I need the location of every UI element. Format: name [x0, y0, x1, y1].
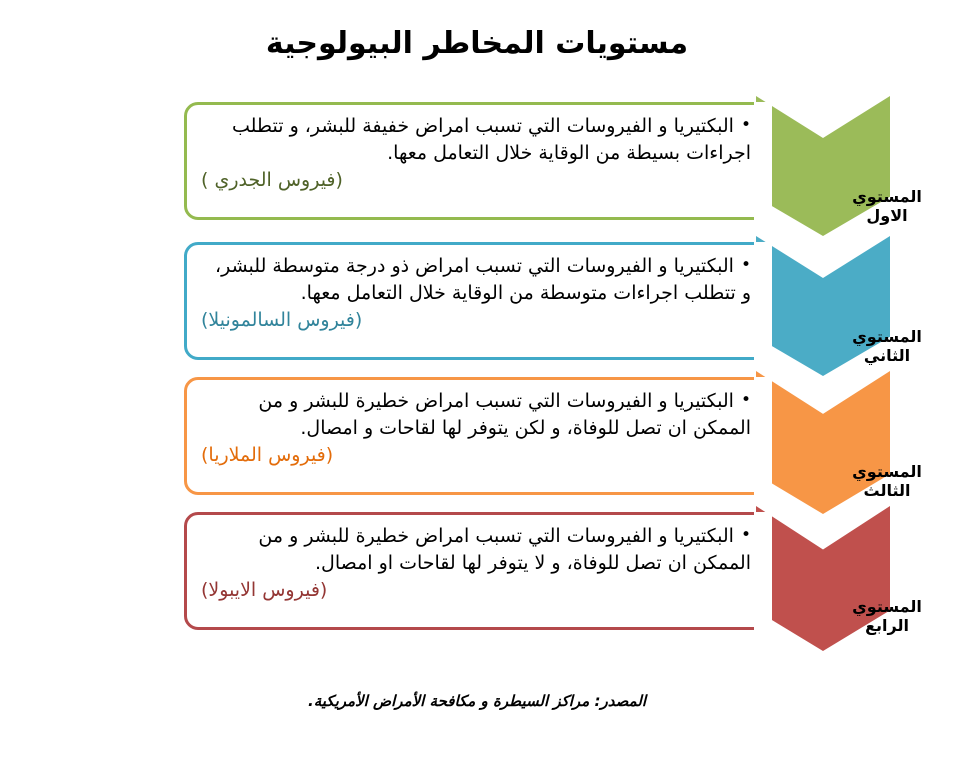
level-chevron-1 — [756, 96, 890, 236]
level-body-label: البكتيريا و الفيروسات التي تسبب امراض خف… — [232, 115, 751, 164]
bullet-icon: • — [741, 392, 751, 409]
level-body-label: البكتيريا و الفيروسات التي تسبب امراض ذو… — [215, 255, 751, 304]
level-chevron-2 — [756, 236, 890, 376]
level-row: •البكتيريا و الفيروسات التي تسبب امراض خ… — [0, 506, 954, 641]
level-text-box-1: •البكتيريا و الفيروسات التي تسبب امراض خ… — [184, 102, 772, 220]
bullet-icon: • — [741, 527, 751, 544]
level-body-label: البكتيريا و الفيروسات التي تسبب امراض خط… — [258, 390, 751, 439]
box-chevron-joint — [752, 102, 772, 220]
level-text-box-4: •البكتيريا و الفيروسات التي تسبب امراض خ… — [184, 512, 772, 630]
box-chevron-joint — [752, 242, 772, 360]
level-chevron-3 — [756, 371, 890, 514]
box-chevron-joint — [752, 377, 772, 495]
level-row: •البكتيريا و الفيروسات التي تسبب امراض خ… — [0, 96, 954, 231]
level-body-text: •البكتيريا و الفيروسات التي تسبب امراض خ… — [201, 388, 751, 442]
level-example-text: (فيروس الملاريا) — [201, 442, 751, 468]
bullet-icon: • — [741, 117, 751, 134]
level-chevron-4 — [756, 506, 890, 651]
level-example-text: (فيروس الايبولا) — [201, 577, 751, 603]
level-body-text: •البكتيريا و الفيروسات التي تسبب امراض خ… — [201, 523, 751, 577]
page-title: مستويات المخاطر البيولوجية — [0, 26, 954, 61]
level-text-box-3: •البكتيريا و الفيروسات التي تسبب امراض خ… — [184, 377, 772, 495]
level-text-box-2: •البكتيريا و الفيروسات التي تسبب امراض ذ… — [184, 242, 772, 360]
level-body-text: •البكتيريا و الفيروسات التي تسبب امراض خ… — [201, 113, 751, 167]
biohazard-levels-diagram: مستويات المخاطر البيولوجية •البكتيريا و … — [0, 0, 954, 784]
level-body-text: •البكتيريا و الفيروسات التي تسبب امراض ذ… — [201, 253, 751, 307]
source-note: المصدر: مراكز السيطرة و مكافحة الأمراض ا… — [0, 692, 954, 710]
bullet-icon: • — [741, 257, 751, 274]
level-example-text: (فيروس السالمونيلا) — [201, 307, 751, 333]
level-row: •البكتيريا و الفيروسات التي تسبب امراض خ… — [0, 371, 954, 506]
level-body-label: البكتيريا و الفيروسات التي تسبب امراض خط… — [258, 525, 751, 574]
box-chevron-joint — [752, 512, 772, 630]
level-row: •البكتيريا و الفيروسات التي تسبب امراض ذ… — [0, 236, 954, 371]
level-example-text: (فيروس الجدري ) — [201, 167, 751, 193]
